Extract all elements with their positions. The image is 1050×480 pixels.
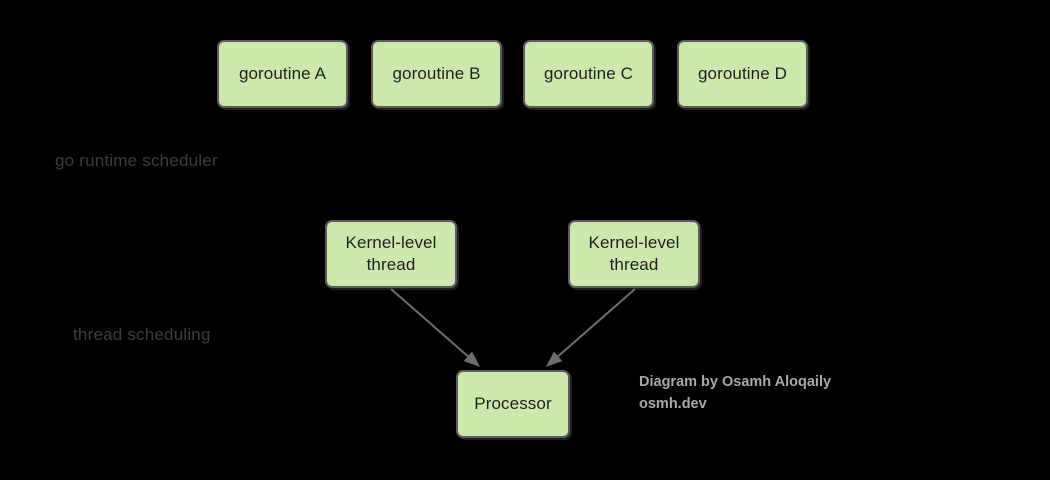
node-kernel-thread-1-label: Kernel-level thread (340, 232, 443, 276)
stage-label-go-runtime-scheduler: go runtime scheduler (55, 151, 218, 171)
node-kernel-thread-1[interactable]: Kernel-level thread (325, 220, 457, 288)
credit-line-site: osmh.dev (639, 393, 831, 415)
node-goroutine-d[interactable]: goroutine D (677, 40, 808, 108)
node-processor[interactable]: Processor (456, 370, 570, 438)
node-goroutine-a[interactable]: goroutine A (217, 40, 348, 108)
node-kernel-thread-2[interactable]: Kernel-level thread (568, 220, 700, 288)
edge-kernel-thread-1-to-processor (391, 289, 479, 366)
node-goroutine-b[interactable]: goroutine B (371, 40, 502, 108)
stage-label-thread-scheduling: thread scheduling (73, 325, 211, 345)
diagram-canvas: goroutine A goroutine B goroutine C goro… (0, 0, 1050, 480)
node-goroutine-b-label: goroutine B (386, 63, 486, 85)
node-goroutine-a-label: goroutine A (233, 63, 332, 85)
node-goroutine-c-label: goroutine C (538, 63, 639, 85)
edge-kernel-thread-2-to-processor (547, 289, 635, 366)
node-processor-label: Processor (468, 393, 557, 415)
node-kernel-thread-2-label: Kernel-level thread (583, 232, 686, 276)
node-goroutine-d-label: goroutine D (692, 63, 793, 85)
node-goroutine-c[interactable]: goroutine C (523, 40, 654, 108)
credit-line-author: Diagram by Osamh Aloqaily (639, 371, 831, 393)
credit-block: Diagram by Osamh Aloqaily osmh.dev (639, 371, 831, 416)
